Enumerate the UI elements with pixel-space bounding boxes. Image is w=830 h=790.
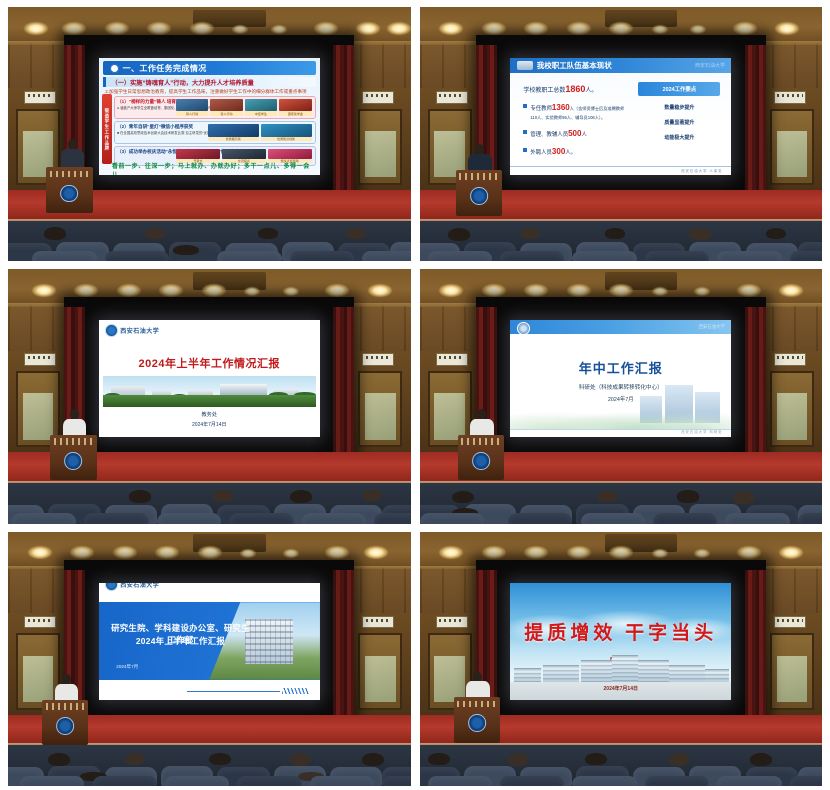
exit-sign-right bbox=[362, 91, 394, 104]
footer-slashes-decoration bbox=[282, 688, 309, 694]
slide-title: 2024年上半年工作情况汇报 bbox=[99, 355, 320, 371]
stats-right-column: 2024工作要点 数量稳步提升 质量显著提升 动能极大提升 bbox=[634, 73, 731, 165]
stat-bullet: 外聘人员300人。 bbox=[523, 146, 629, 158]
podium-1 bbox=[46, 167, 92, 213]
auditorium-scene-3: 西安石油大学 2024年上半年工作情况汇报 bbox=[8, 269, 411, 523]
led-screen-4[interactable]: 西安石油大学 年中工作汇报 科研处（科技成果转移转化中心） 2024年7月 西安… bbox=[510, 320, 731, 437]
total-staff-line: 学校教职工总数1860人。 bbox=[523, 84, 629, 94]
slide-department: 科研处（科技成果转移转化中心） bbox=[510, 383, 731, 391]
slide-sidebar-label: 锻造学生工作品牌 bbox=[102, 94, 112, 164]
university-emblem-icon bbox=[470, 187, 488, 205]
campus-photo-band bbox=[103, 376, 316, 406]
audience-area-5 bbox=[8, 745, 411, 786]
stats-left-column: 学校教职工总数1860人。 专任教师1360人（含师资博士后及准聘教师110人、… bbox=[510, 73, 634, 165]
slide-footer: 看前一步、往深一步；马上就办、办就办好；多干一点儿、多得一会儿 bbox=[112, 166, 316, 174]
bullet-square-icon bbox=[523, 104, 527, 108]
photo-cell-4[interactable]: 西安石油大学 年中工作汇报 科研处（科技成果转移转化中心） 2024年7月 西安… bbox=[420, 269, 823, 523]
slide-date: 2024年7月14日 bbox=[99, 421, 320, 428]
podium-4 bbox=[458, 435, 504, 481]
priorities-title: 2024工作要点 bbox=[638, 82, 720, 96]
led-screen-2[interactable]: 我校职工队伍基本现状 西安石油大学 学校教职工总数1860人。 专任教师1360… bbox=[510, 58, 731, 175]
audience-area-2 bbox=[420, 221, 823, 262]
door-right bbox=[770, 371, 814, 447]
university-emblem-icon bbox=[56, 717, 74, 735]
exit-sign-left bbox=[436, 353, 468, 366]
photo-cell-1[interactable]: 一、工作任务完成情况 （一）实施“铸魂育人”行动，大力提升人才培养质量 2.加强… bbox=[8, 7, 411, 261]
thumb-caption: 铸人行动 bbox=[176, 111, 208, 116]
bullet-square-icon bbox=[523, 148, 527, 152]
door-right bbox=[358, 109, 402, 185]
slide-subheader-text: （一）实施“铸魂育人”行动，大力提升人才培养质量 bbox=[112, 78, 254, 87]
slide-block-1: （1）“榜样的力量”铸人 培育体系蓬勃发展 ● 涵盖产大师学生全覆盖培育、集团化… bbox=[114, 96, 315, 119]
slide-department: 教务处 bbox=[99, 411, 320, 418]
auditorium-scene-6: 提质增效 干字当头 西安石油大学 2024年7月14日 bbox=[420, 532, 823, 786]
led-screen-6[interactable]: 提质增效 干字当头 西安石油大学 2024年7月14日 bbox=[510, 583, 731, 700]
podium-5 bbox=[42, 700, 88, 746]
thumb-caption: 国家奖学金 bbox=[279, 111, 311, 116]
green-hills bbox=[510, 404, 731, 430]
priority-item: 质量显著提升 bbox=[638, 119, 720, 126]
door-right bbox=[770, 109, 814, 185]
slide-footer: 西安石油大学 科研处 bbox=[510, 429, 731, 437]
slide-academic-affairs-cover: 西安石油大学 2024年上半年工作情况汇报 bbox=[99, 320, 320, 437]
exit-sign-right bbox=[774, 91, 806, 104]
auditorium-scene-1: 一、工作任务完成情况 （一）实施“铸魂育人”行动，大力提升人才培养质量 2.加强… bbox=[8, 7, 411, 261]
footer-rule bbox=[187, 691, 280, 692]
exit-sign-left bbox=[24, 616, 56, 629]
slide-date: 2024年7月 bbox=[510, 395, 731, 403]
university-logo-icon bbox=[105, 324, 118, 337]
auditorium-scene-5: 西安石油大学 研究生院、学科建设办公室、研究生工作部 2024年上半年工作汇报 … bbox=[8, 532, 411, 786]
auditorium-scene-4: 西安石油大学 年中工作汇报 科研处（科技成果转移转化中心） 2024年7月 西安… bbox=[420, 269, 823, 523]
slide-footer-text: 西安石油大学 科研处 bbox=[681, 429, 722, 434]
total-staff-value: 1860 bbox=[565, 84, 585, 94]
bullet-square-icon bbox=[523, 130, 527, 134]
podium-6 bbox=[454, 697, 500, 743]
slide-header-bar: 一、工作任务完成情况 bbox=[103, 61, 316, 75]
header-dot-icon bbox=[110, 64, 119, 73]
led-screen-1[interactable]: 一、工作任务完成情况 （一）实施“铸魂育人”行动，大力提升人才培养质量 2.加强… bbox=[99, 58, 320, 175]
door-right bbox=[358, 371, 402, 447]
stat-bullet: 管理、教辅人员500人 bbox=[523, 128, 629, 140]
thumb-caption: 中坚学生 bbox=[245, 111, 277, 116]
slide-header-title: 一、工作任务完成情况 bbox=[123, 63, 207, 74]
exit-sign-right bbox=[362, 616, 394, 629]
audience-area-6 bbox=[420, 745, 823, 786]
exit-sign-left bbox=[24, 353, 56, 366]
auditorium-scene-2: 我校职工队伍基本现状 西安石油大学 学校教职工总数1860人。 专任教师1360… bbox=[420, 7, 823, 261]
header-watermark: 西安石油大学 bbox=[695, 62, 725, 69]
university-wordmark: 西安石油大学 bbox=[120, 583, 159, 589]
avatar-icon bbox=[517, 322, 530, 335]
university-emblem-icon bbox=[65, 452, 83, 470]
slide-date: 2024年7月14日 bbox=[510, 685, 731, 692]
university-logo: 西安石油大学 bbox=[105, 324, 159, 337]
slide-footer-text: 西安石油大学 人事处 bbox=[681, 168, 722, 173]
exit-sign-right bbox=[362, 353, 394, 366]
slogan-text: 提质增效 干字当头 bbox=[510, 618, 731, 645]
slide-title: 年中工作汇报 bbox=[510, 358, 731, 377]
slide-footer: 西安石油大学 人事处 bbox=[510, 166, 731, 175]
audience-area-3 bbox=[8, 483, 411, 524]
thumb-caption: 铸人行动 bbox=[210, 111, 242, 116]
header-watermark: 西安石油大学 bbox=[698, 324, 724, 330]
slide-staff-stats: 我校职工队伍基本现状 西安石油大学 学校教职工总数1860人。 专任教师1360… bbox=[510, 58, 731, 175]
photo-cell-6[interactable]: 提质增效 干字当头 西安石油大学 2024年7月14日 bbox=[420, 532, 823, 786]
slide-date: 2024年7月 bbox=[116, 664, 138, 670]
slide-block-2: （2）青年自研“星灯”微信小程序获奖 ■ 在全国高校思政技术创新大会技术研发比赛… bbox=[114, 121, 315, 144]
audience-area-4 bbox=[420, 483, 823, 524]
exit-sign-left bbox=[436, 91, 468, 104]
stat-bullet: 专任教师1360人（含师资博士后及准聘教师110人、实验教师95人、辅导员106… bbox=[523, 102, 629, 122]
slide-header-title: 我校职工队伍基本现状 bbox=[537, 60, 612, 71]
photo-cell-3[interactable]: 西安石油大学 2024年上半年工作情况汇报 bbox=[8, 269, 411, 523]
university-emblem-icon bbox=[472, 452, 490, 470]
door-right bbox=[770, 633, 814, 709]
block-1-thumbs: 铸人行动 铸人行动 中坚学生 国家奖学金 bbox=[176, 99, 312, 116]
slide-lead-text: 2.加强学生日常思想政治教育，提高学生工作品味，注重做好学生工作中的细分群体工作… bbox=[105, 89, 315, 95]
slide-header-bar: 西安石油大学 bbox=[510, 320, 731, 334]
university-emblem-icon bbox=[468, 714, 486, 732]
priority-item: 数量稳步提升 bbox=[638, 104, 720, 111]
slide-slogan: 提质增效 干字当头 西安石油大学 2024年7月14日 bbox=[510, 583, 731, 700]
campus-skyline bbox=[510, 653, 731, 683]
podium-2 bbox=[456, 170, 502, 216]
slide-footer-text: 看前一步、往深一步；马上就办、办就办好；多干一点儿、多得一会儿 bbox=[112, 161, 316, 175]
school-badge-icon bbox=[517, 61, 533, 70]
audience-area-1 bbox=[8, 221, 411, 262]
university-wordmark: 西安石油大学 bbox=[120, 326, 159, 335]
priority-item: 动能极大提升 bbox=[638, 134, 720, 141]
slide-subheader: （一）实施“铸魂育人”行动，大力提升人才培养质量 bbox=[103, 77, 316, 87]
exit-sign-right bbox=[774, 616, 806, 629]
photo-cell-2[interactable]: 我校职工队伍基本现状 西安石油大学 学校教职工总数1860人。 专任教师1360… bbox=[420, 7, 823, 261]
thumb-caption: 优秀知识创新 bbox=[261, 137, 312, 142]
slide-research-office-cover: 西安石油大学 年中工作汇报 科研处（科技成果转移转化中心） 2024年7月 西安… bbox=[510, 320, 731, 437]
exit-sign-left bbox=[436, 616, 468, 629]
slide-topbar: 西安石油大学 bbox=[99, 583, 320, 603]
podium-nameplate bbox=[50, 171, 89, 177]
thumb-caption: 优秀展示奖 bbox=[208, 137, 259, 142]
slide-graduate-school-cover: 西安石油大学 研究生院、学科建设办公室、研究生工作部 2024年上半年工作汇报 … bbox=[99, 583, 320, 700]
block-2-thumbs: 优秀展示奖 优秀知识创新 bbox=[208, 124, 312, 141]
university-emblem-icon bbox=[61, 185, 79, 203]
slide-work-tasks: 一、工作任务完成情况 （一）实施“铸魂育人”行动，大力提升人才培养质量 2.加强… bbox=[99, 58, 320, 175]
slide-header-bar: 我校职工队伍基本现状 西安石油大学 bbox=[510, 58, 731, 73]
university-logo: 西安石油大学 bbox=[105, 583, 159, 585]
podium-3 bbox=[50, 435, 96, 481]
exit-sign-right bbox=[774, 353, 806, 366]
led-screen-5[interactable]: 西安石油大学 研究生院、学科建设办公室、研究生工作部 2024年上半年工作汇报 … bbox=[99, 583, 320, 700]
led-screen-3[interactable]: 西安石油大学 2024年上半年工作情况汇报 bbox=[99, 320, 320, 437]
door-right bbox=[358, 633, 402, 709]
university-logo-icon bbox=[105, 583, 118, 591]
slide-title-line-2: 2024年上半年工作汇报 bbox=[107, 635, 253, 647]
photo-grid: 一、工作任务完成情况 （一）实施“铸魂育人”行动，大力提升人才培养质量 2.加强… bbox=[0, 0, 830, 790]
photo-cell-5[interactable]: 西安石油大学 研究生院、学科建设办公室、研究生工作部 2024年上半年工作汇报 … bbox=[8, 532, 411, 786]
curtain-right bbox=[333, 45, 354, 195]
exit-sign-left bbox=[24, 91, 56, 104]
